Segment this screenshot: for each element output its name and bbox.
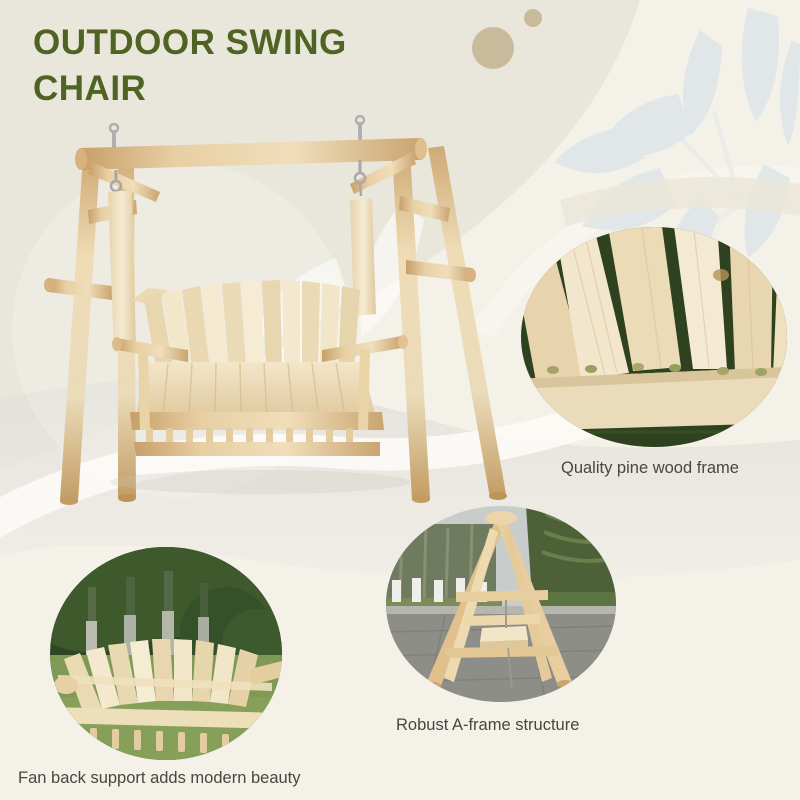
title-line-2: CHAIR: [33, 66, 453, 112]
hero-product-image: [20, 100, 540, 520]
frame-right-legs: [392, 146, 507, 503]
seat-spindles: [146, 428, 353, 444]
feature-image-pine-frame: [521, 227, 787, 447]
page-title: OUTDOOR SWING CHAIR: [33, 20, 453, 112]
feature-image-a-frame: [386, 506, 616, 702]
caption-a-frame: Robust A-frame structure: [396, 716, 579, 735]
title-line-1: OUTDOOR SWING: [33, 20, 453, 66]
decor-circle-small: [524, 9, 542, 27]
caption-pine-frame: Quality pine wood frame: [561, 459, 739, 478]
decor-circle-large: [472, 27, 514, 69]
feature-image-fan-back: [50, 547, 282, 760]
infographic-canvas: OUTDOOR SWING CHAIR: [0, 0, 800, 800]
caption-fan-back: Fan back support adds modern beauty: [18, 769, 301, 788]
